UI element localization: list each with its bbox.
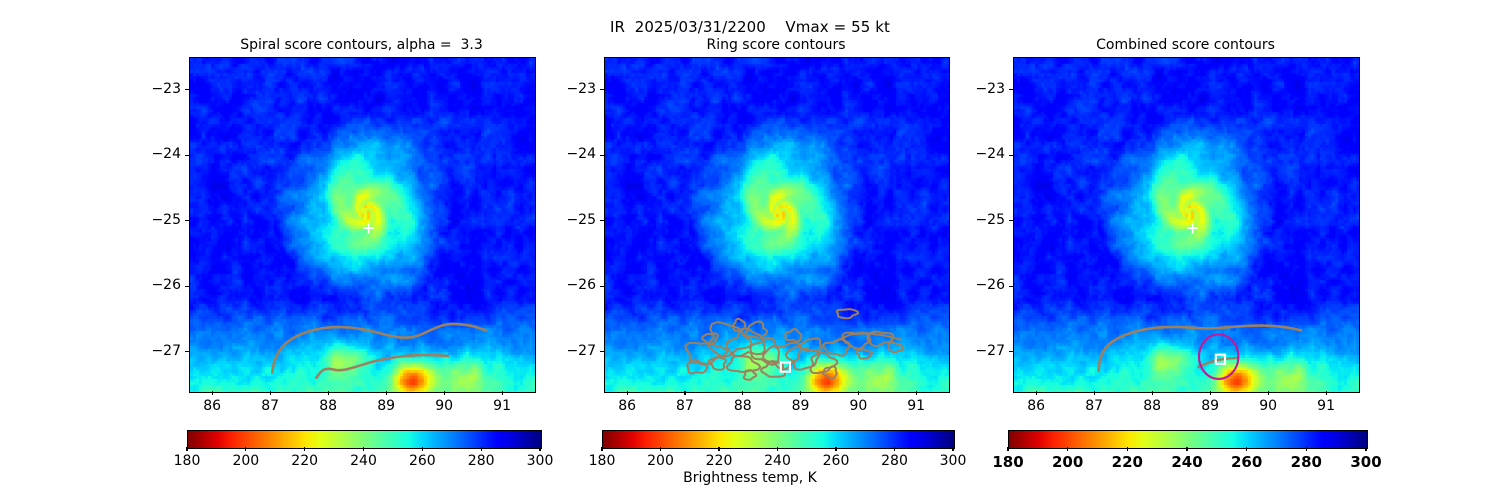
panel-title-ring: Ring score contours [604, 37, 948, 53]
storm-center-cross-icon [1187, 223, 1197, 233]
cb-right-tick-label-1: 200 [1042, 453, 1094, 471]
cb-right-tick-label-0: 180 [982, 453, 1034, 471]
contour-overlay-ring [605, 58, 949, 392]
cb-right-tick-mark-0 [1007, 447, 1008, 451]
ring-contour-lines [685, 309, 903, 380]
ytick-mark-combined-2 [1009, 220, 1013, 221]
cb-right-tick-mark-5 [1306, 447, 1307, 451]
xtick-label-spiral-3: 89 [364, 398, 408, 414]
xtick-mark-combined-1 [1094, 391, 1095, 395]
xtick-label-spiral-0: 86 [190, 398, 234, 414]
ytick-mark-combined-0 [1009, 89, 1013, 90]
xtick-label-spiral-5: 91 [480, 398, 524, 414]
ytick-mark-ring-1 [600, 155, 604, 156]
xtick-label-combined-0: 86 [1014, 398, 1058, 414]
xtick-mark-ring-0 [627, 391, 628, 395]
cb-left-tick-label-1: 200 [220, 453, 272, 469]
cb-middle-tick-label-3: 240 [752, 453, 804, 469]
cb-right-tick-mark-4 [1246, 447, 1247, 451]
xtick-label-ring-1: 87 [663, 398, 707, 414]
cb-left-gradient [188, 431, 541, 448]
cb-middle[interactable] [602, 430, 955, 449]
xtick-label-spiral-2: 88 [306, 398, 350, 414]
cb-left-tick-label-0: 180 [161, 453, 213, 469]
contour-overlay-combined [1014, 58, 1359, 392]
ytick-label-spiral-0: −23 [143, 81, 181, 97]
ytick-label-ring-0: −23 [558, 81, 596, 97]
storm-center-cross-icon [363, 223, 373, 233]
ytick-label-spiral-1: −24 [143, 146, 181, 162]
contour-overlay-spiral [190, 58, 535, 392]
cb-right-tick-mark-1 [1067, 447, 1068, 451]
ytick-mark-spiral-4 [185, 351, 189, 352]
cb-left-tick-mark-6 [539, 447, 540, 451]
xtick-mark-spiral-0 [212, 391, 213, 395]
ytick-mark-spiral-3 [185, 286, 189, 287]
cb-left-tick-label-5: 280 [455, 453, 507, 469]
ytick-label-spiral-2: −25 [143, 212, 181, 228]
ytick-label-ring-3: −26 [558, 277, 596, 293]
ytick-label-ring-4: −27 [558, 343, 596, 359]
cb-middle-tick-label-0: 180 [576, 453, 628, 469]
cb-left-tick-mark-5 [481, 447, 482, 451]
cb-right-tick-label-5: 280 [1280, 453, 1332, 471]
cb-right-tick-mark-6 [1365, 447, 1366, 451]
ytick-label-combined-1: −24 [967, 146, 1005, 162]
cb-middle-tick-label-4: 260 [810, 453, 862, 469]
ytick-label-spiral-4: −27 [143, 343, 181, 359]
cb-right-tick-label-4: 260 [1221, 453, 1273, 471]
cb-left-tick-mark-3 [363, 447, 364, 451]
cb-middle-tick-mark-4 [835, 447, 836, 451]
xtick-mark-combined-4 [1268, 391, 1269, 395]
ytick-mark-ring-2 [600, 220, 604, 221]
cb-right-tick-mark-3 [1186, 447, 1187, 451]
cb-middle-tick-mark-6 [952, 447, 953, 451]
xtick-label-combined-2: 88 [1130, 398, 1174, 414]
cb-left-tick-label-4: 260 [396, 453, 448, 469]
plot-area-ring[interactable] [604, 57, 950, 393]
plot-area-combined[interactable] [1013, 57, 1360, 393]
xtick-label-combined-1: 87 [1072, 398, 1116, 414]
cb-middle-tick-label-6: 300 [927, 453, 979, 469]
ring-circle [1199, 334, 1238, 379]
ytick-mark-spiral-1 [185, 155, 189, 156]
plot-area-spiral[interactable] [189, 57, 536, 393]
cb-left-tick-mark-4 [422, 447, 423, 451]
ytick-label-ring-1: −24 [558, 146, 596, 162]
ytick-mark-spiral-0 [185, 89, 189, 90]
cb-left-tick-mark-1 [245, 447, 246, 451]
figure-suptitle: IR 2025/03/31/2200 Vmax = 55 kt [0, 18, 1500, 36]
xtick-label-ring-0: 86 [605, 398, 649, 414]
cb-middle-tick-label-5: 280 [869, 453, 921, 469]
ytick-label-combined-4: −27 [967, 343, 1005, 359]
ytick-mark-ring-4 [600, 351, 604, 352]
xtick-mark-ring-5 [916, 391, 917, 395]
xtick-mark-combined-2 [1152, 391, 1153, 395]
ytick-mark-combined-4 [1009, 351, 1013, 352]
xtick-mark-combined-5 [1326, 391, 1327, 395]
cb-middle-tick-mark-3 [777, 447, 778, 451]
xtick-mark-combined-0 [1036, 391, 1037, 395]
xtick-label-ring-4: 90 [836, 398, 880, 414]
xtick-label-ring-5: 91 [894, 398, 938, 414]
xtick-mark-spiral-3 [386, 391, 387, 395]
panel-title-spiral: Spiral score contours, alpha = 3.3 [189, 37, 534, 53]
xtick-label-combined-4: 90 [1246, 398, 1290, 414]
colorbar-label: Brightness temp, K [0, 470, 1500, 486]
ytick-mark-ring-0 [600, 89, 604, 90]
cb-left-tick-label-6: 300 [514, 453, 566, 469]
xtick-label-ring-2: 88 [721, 398, 765, 414]
cb-middle-tick-mark-2 [718, 447, 719, 451]
ytick-label-spiral-3: −26 [143, 277, 181, 293]
cb-left-tick-label-3: 240 [338, 453, 390, 469]
xtick-label-spiral-4: 90 [422, 398, 466, 414]
spiral-contour-lines [272, 324, 485, 378]
ytick-label-combined-0: −23 [967, 81, 1005, 97]
xtick-mark-ring-1 [684, 391, 685, 395]
cb-middle-tick-label-1: 200 [635, 453, 687, 469]
xtick-mark-spiral-4 [444, 391, 445, 395]
cb-left-tick-label-2: 220 [279, 453, 331, 469]
cb-right-tick-label-3: 240 [1161, 453, 1213, 471]
cb-right-tick-label-2: 220 [1101, 453, 1153, 471]
xtick-label-spiral-1: 87 [248, 398, 292, 414]
figure-canvas: IR 2025/03/31/2200 Vmax = 55 kt Spiral s… [0, 0, 1500, 500]
cb-middle-tick-mark-5 [894, 447, 895, 451]
cb-right-gradient [1009, 431, 1367, 448]
cb-right-tick-mark-2 [1127, 447, 1128, 451]
ytick-mark-combined-3 [1009, 286, 1013, 287]
panel-title-combined: Combined score contours [1013, 37, 1358, 53]
cb-middle-tick-mark-1 [660, 447, 661, 451]
xtick-mark-spiral-1 [270, 391, 271, 395]
xtick-mark-ring-4 [858, 391, 859, 395]
cb-left[interactable] [187, 430, 542, 449]
cb-right[interactable] [1008, 430, 1368, 449]
ytick-mark-spiral-2 [185, 220, 189, 221]
ytick-label-combined-3: −26 [967, 277, 1005, 293]
cb-right-tick-label-6: 300 [1340, 453, 1392, 471]
cb-left-tick-mark-2 [304, 447, 305, 451]
ytick-label-ring-2: −25 [558, 212, 596, 228]
xtick-label-ring-3: 89 [779, 398, 823, 414]
ytick-mark-ring-3 [600, 286, 604, 287]
xtick-mark-combined-3 [1210, 391, 1211, 395]
cb-middle-tick-label-2: 220 [693, 453, 745, 469]
cb-middle-gradient [603, 431, 954, 448]
xtick-mark-ring-3 [800, 391, 801, 395]
xtick-label-combined-3: 89 [1188, 398, 1232, 414]
ytick-mark-combined-1 [1009, 155, 1013, 156]
xtick-mark-spiral-2 [328, 391, 329, 395]
ytick-label-combined-2: −25 [967, 212, 1005, 228]
xtick-label-combined-5: 91 [1304, 398, 1348, 414]
xtick-mark-ring-2 [742, 391, 743, 395]
xtick-mark-spiral-5 [502, 391, 503, 395]
cb-left-tick-mark-0 [186, 447, 187, 451]
cb-middle-tick-mark-0 [601, 447, 602, 451]
